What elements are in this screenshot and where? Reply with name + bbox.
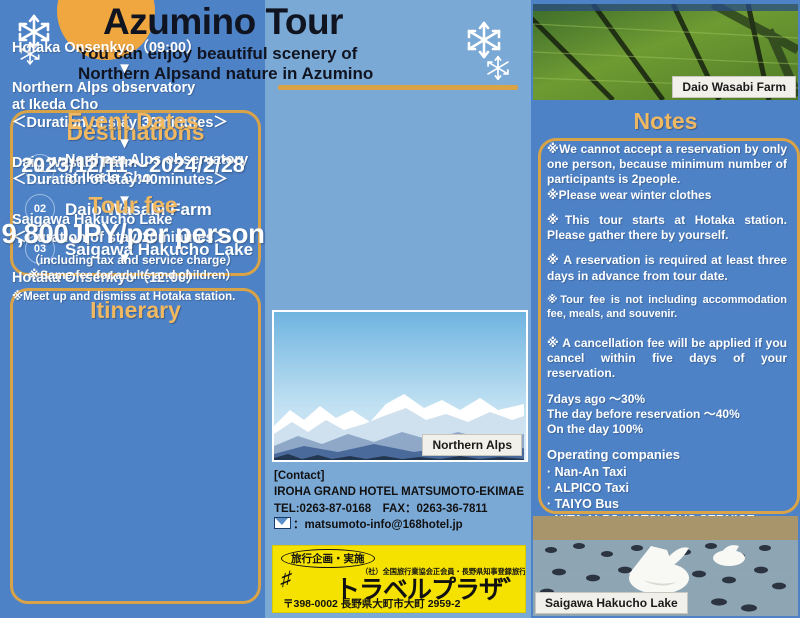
swan-lake-photo: Saigawa Hakucho Lake <box>533 516 798 616</box>
operating-companies-heading: Operating companies <box>547 447 787 464</box>
page-title: Azumino Tour <box>103 1 343 43</box>
notes-cancellation-rates: 7days ago 〜30% The day before reservatio… <box>547 392 787 438</box>
tour-fee-value: 9,800JPY/per person <box>0 218 266 250</box>
agency-address: 〒398-0002 長野県大町市大町 2959-2 <box>283 596 460 611</box>
contact-hotel: IROHA GRAND HOTEL MATSUMOTO-EKIMAE <box>274 484 526 500</box>
notes-fee-exclusion: ※Tour fee is not including accommodation… <box>547 294 787 322</box>
tour-fee-note-1: （including tax and service charge） <box>0 253 266 269</box>
event-dates-heading: Event Dates <box>0 108 266 135</box>
notes-content: ※We cannot accept a reservation by only … <box>547 142 787 529</box>
list-item: TAIYO Bus <box>547 496 787 512</box>
itinerary-panel: Itinerary <box>10 288 261 604</box>
event-dates-value: 2023/12/11〜2024/2/28 <box>0 148 266 179</box>
down-triangle-icon: ▼ <box>12 61 237 76</box>
wasabi-farm-photo: Daio Wasabi Farm <box>533 4 798 100</box>
notes-paragraph: ※We cannot accept a reservation by only … <box>547 142 787 203</box>
itinerary-note: ※Meet up and dismiss at Hotaka station. <box>12 289 237 303</box>
contact-tel-fax: TEL:0263-87-0168 FAX：0263-36-7811 <box>274 501 526 517</box>
agency-logo-box: 旅行企画・実施 （社）全国旅行業協会正会員・長野県知事登録旅行業 2-286 ♯… <box>272 545 526 613</box>
itinerary-step: Hotaka Onsenkyo（09:00） <box>12 40 237 58</box>
northern-alps-photo: Northern Alps <box>272 310 528 462</box>
contact-email: ：matsumoto-info@168hotel.jp <box>293 519 463 531</box>
photo-caption: Northern Alps <box>422 434 522 456</box>
contact-block: [Contact] IROHA GRAND HOTEL MATSUMOTO-EK… <box>274 468 526 533</box>
contact-label: [Contact] <box>274 468 526 484</box>
notes-paragraph: ※ A reservation is required at least thr… <box>547 253 787 283</box>
list-item: ALPICO Taxi <box>547 480 787 496</box>
notes-heading: Notes <box>531 108 800 135</box>
list-item: Nan-An Taxi <box>547 464 787 480</box>
agency-logo-mark: ♯ <box>281 568 333 592</box>
contact-email-row: ：matsumoto-info@168hotel.jp <box>274 517 526 533</box>
notes-cancellation: ※ A cancellation fee will be applied if … <box>547 336 787 382</box>
flyer-root: Azumino Tour You can enjoy beautiful sce… <box>0 0 800 618</box>
agency-badge: 旅行企画・実施 <box>281 549 375 568</box>
center-divider-bar <box>278 85 518 90</box>
photo-caption: Daio Wasabi Farm <box>672 76 796 98</box>
photo-caption: Saigawa Hakucho Lake <box>535 592 688 614</box>
tour-fee-heading: Tour fee <box>0 192 266 219</box>
tour-fee-note-2: ※Same fee for adults and children） <box>0 268 266 284</box>
envelope-icon <box>274 517 291 529</box>
notes-paragraph: ※This tour starts at Hotaka station. Ple… <box>547 213 787 243</box>
